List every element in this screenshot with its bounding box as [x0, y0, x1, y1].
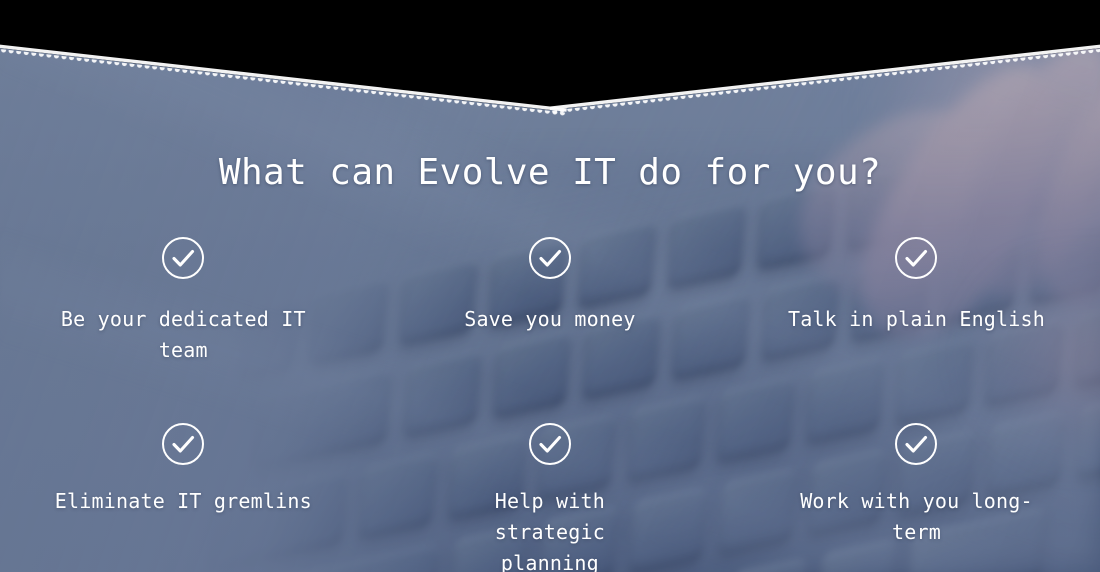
check-circle-icon: [894, 422, 938, 470]
benefit-label: Help with strategic planning: [442, 486, 657, 572]
check-circle-icon: [894, 236, 938, 284]
benefit-item-eliminate-gremlins: Eliminate IT gremlins: [0, 422, 367, 572]
benefit-label: Eliminate IT gremlins: [55, 486, 312, 517]
page-title: What can Evolve IT do for you?: [0, 152, 1100, 193]
check-circle-icon: [161, 422, 205, 470]
check-circle-icon: [161, 236, 205, 284]
benefit-label: Be your dedicated IT team: [33, 304, 333, 366]
benefit-label: Work with you long-term: [776, 486, 1056, 548]
benefits-grid: Be your dedicated IT team Save you money: [0, 236, 1100, 572]
benefit-item-dedicated-it-team: Be your dedicated IT team: [0, 236, 367, 366]
benefit-item-long-term: Work with you long-term: [733, 422, 1100, 572]
benefit-item-strategic-planning: Help with strategic planning: [367, 422, 734, 572]
check-circle-icon: [528, 236, 572, 284]
check-circle-icon: [528, 422, 572, 470]
promo-section: What can Evolve IT do for you? Be your d…: [0, 0, 1100, 572]
benefit-label: Save you money: [464, 304, 635, 335]
benefit-label: Talk in plain English: [788, 304, 1045, 335]
section-content: What can Evolve IT do for you? Be your d…: [0, 0, 1100, 572]
benefits-row-1: Be your dedicated IT team Save you money: [0, 236, 1100, 366]
benefit-item-plain-english: Talk in plain English: [733, 236, 1100, 366]
benefits-row-2: Eliminate IT gremlins Help with strategi…: [0, 422, 1100, 572]
benefit-item-save-money: Save you money: [367, 236, 734, 366]
